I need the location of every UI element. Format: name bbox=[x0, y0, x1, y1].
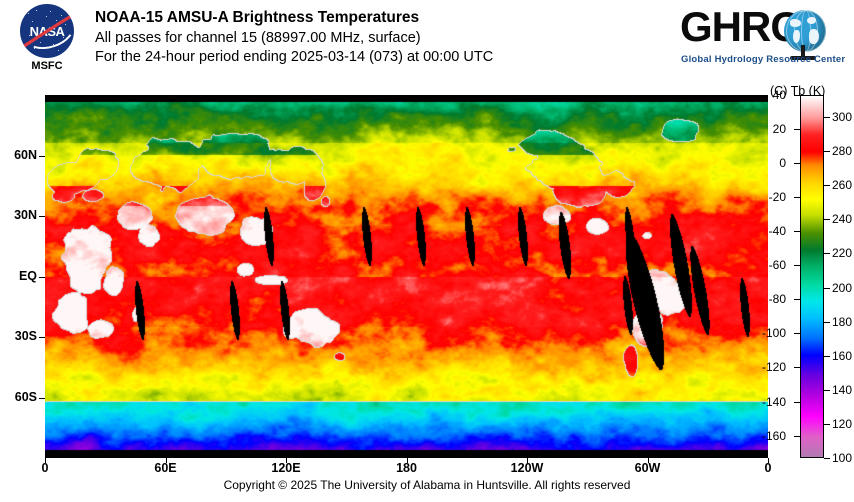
colorbar-celsius-label: -100 bbox=[762, 326, 786, 340]
colorbar-kelvin-label: 180 bbox=[832, 315, 852, 329]
latitude-label: 30S bbox=[15, 329, 37, 343]
colorbar-celsius-tick bbox=[794, 129, 800, 130]
latitude-label: EQ bbox=[19, 269, 37, 283]
colorbar-kelvin-tick bbox=[824, 151, 830, 152]
colorbar-celsius-label: -80 bbox=[769, 292, 786, 306]
colorbar-celsius-tick bbox=[794, 265, 800, 266]
copyright-notice: Copyright © 2025 The University of Alaba… bbox=[0, 478, 854, 492]
latitude-label: 30N bbox=[14, 208, 37, 222]
latitude-tick bbox=[39, 337, 45, 338]
latitude-tick bbox=[39, 398, 45, 399]
colorbar-kelvin-label: 200 bbox=[832, 281, 852, 295]
colorbar[interactable]: 300280260240220200180160140120100 bbox=[800, 95, 824, 458]
colorbar-kelvin-tick bbox=[824, 356, 830, 357]
colorbar-kelvin-tick bbox=[824, 117, 830, 118]
colorbar-celsius-tick bbox=[794, 163, 800, 164]
longitude-label: 60W bbox=[635, 461, 661, 475]
longitude-label: 0 bbox=[765, 461, 772, 475]
latitude-label: 60N bbox=[14, 148, 37, 162]
colorbar-kelvin-tick bbox=[824, 424, 830, 425]
colorbar-kelvin-label: 140 bbox=[832, 383, 852, 397]
colorbar-kelvin-label: 160 bbox=[832, 349, 852, 363]
colorbar-kelvin-label: 120 bbox=[832, 417, 852, 431]
colorbar-celsius-label: -20 bbox=[769, 190, 786, 204]
colorbar-celsius-label: -140 bbox=[762, 395, 786, 409]
colorbar-celsius-labels: 40200-20-40-60-80-100-120-140-160 bbox=[724, 95, 794, 458]
page-subtitle-channel: All passes for channel 15 (88997.00 MHz,… bbox=[95, 29, 655, 48]
latitude-label: 60S bbox=[15, 390, 37, 404]
colorbar-kelvin-label: 300 bbox=[832, 110, 852, 124]
colorbar-kelvin-tick bbox=[824, 185, 830, 186]
colorbar-kelvin-label: 260 bbox=[832, 178, 852, 192]
colorbar-celsius-tick bbox=[794, 367, 800, 368]
longitude-tick bbox=[166, 458, 167, 463]
colorbar-kelvin-tick bbox=[824, 390, 830, 391]
latitude-tick bbox=[39, 216, 45, 217]
page-subtitle-period: For the 24-hour period ending 2025-03-14… bbox=[95, 48, 655, 67]
colorbar-celsius-tick bbox=[794, 436, 800, 437]
longitude-label: 120E bbox=[271, 461, 300, 475]
longitude-label: 120W bbox=[511, 461, 544, 475]
longitude-tick bbox=[768, 458, 769, 463]
longitude-tick bbox=[407, 458, 408, 463]
latitude-tick bbox=[39, 156, 45, 157]
colorbar-gradient bbox=[800, 95, 824, 458]
ghrc-globe-icon bbox=[784, 10, 826, 52]
longitude-label: 180 bbox=[396, 461, 417, 475]
colorbar-kelvin-tick bbox=[824, 253, 830, 254]
page-title: NOAA-15 AMSU-A Brightness Temperatures bbox=[95, 8, 655, 28]
title-block: NOAA-15 AMSU-A Brightness Temperatures A… bbox=[95, 8, 655, 67]
colorbar-celsius-label: -120 bbox=[762, 360, 786, 374]
colorbar-celsius-label: -160 bbox=[762, 429, 786, 443]
colorbar-kelvin-label: 100 bbox=[832, 451, 852, 465]
colorbar-celsius-tick bbox=[794, 197, 800, 198]
longitude-tick bbox=[648, 458, 649, 463]
colorbar-kelvin-tick bbox=[824, 288, 830, 289]
latitude-tick bbox=[39, 277, 45, 278]
colorbar-celsius-tick bbox=[794, 231, 800, 232]
page-header: NASA MSFC NOAA-15 AMSU-A Brightness Temp… bbox=[0, 0, 854, 90]
colorbar-kelvin-tick bbox=[824, 458, 830, 459]
colorbar-celsius-label: 0 bbox=[779, 156, 786, 170]
colorbar-celsius-tick bbox=[794, 333, 800, 334]
longitude-tick bbox=[286, 458, 287, 463]
colorbar-celsius-label: -40 bbox=[769, 224, 786, 238]
colorbar-celsius-label: 40 bbox=[773, 88, 786, 102]
colorbar-celsius-tick bbox=[794, 299, 800, 300]
map-raster bbox=[45, 95, 768, 458]
colorbar-celsius-tick bbox=[794, 95, 800, 96]
colorbar-kelvin-tick bbox=[824, 219, 830, 220]
colorbar-kelvin-label: 280 bbox=[832, 144, 852, 158]
ghrc-wordmark: GHRC bbox=[680, 4, 800, 50]
ghrc-logo: GHRC Global Hydrology Resource Center bbox=[680, 4, 840, 72]
colorbar-celsius-label: -60 bbox=[769, 258, 786, 272]
longitude-label: 60E bbox=[154, 461, 176, 475]
ghrc-tagline: Global Hydrology Resource Center bbox=[681, 54, 839, 65]
colorbar-kelvin-tick bbox=[824, 322, 830, 323]
colorbar-celsius-label: 20 bbox=[773, 122, 786, 136]
longitude-tick bbox=[45, 458, 46, 463]
longitude-label: 0 bbox=[42, 461, 49, 475]
brightness-temperature-map[interactable] bbox=[45, 95, 768, 458]
latitude-axis: 60N30NEQ30S60S bbox=[0, 0, 45, 502]
longitude-tick bbox=[527, 458, 528, 463]
colorbar-kelvin-label: 240 bbox=[832, 212, 852, 226]
colorbar-kelvin-label: 220 bbox=[832, 246, 852, 260]
colorbar-celsius-tick bbox=[794, 402, 800, 403]
